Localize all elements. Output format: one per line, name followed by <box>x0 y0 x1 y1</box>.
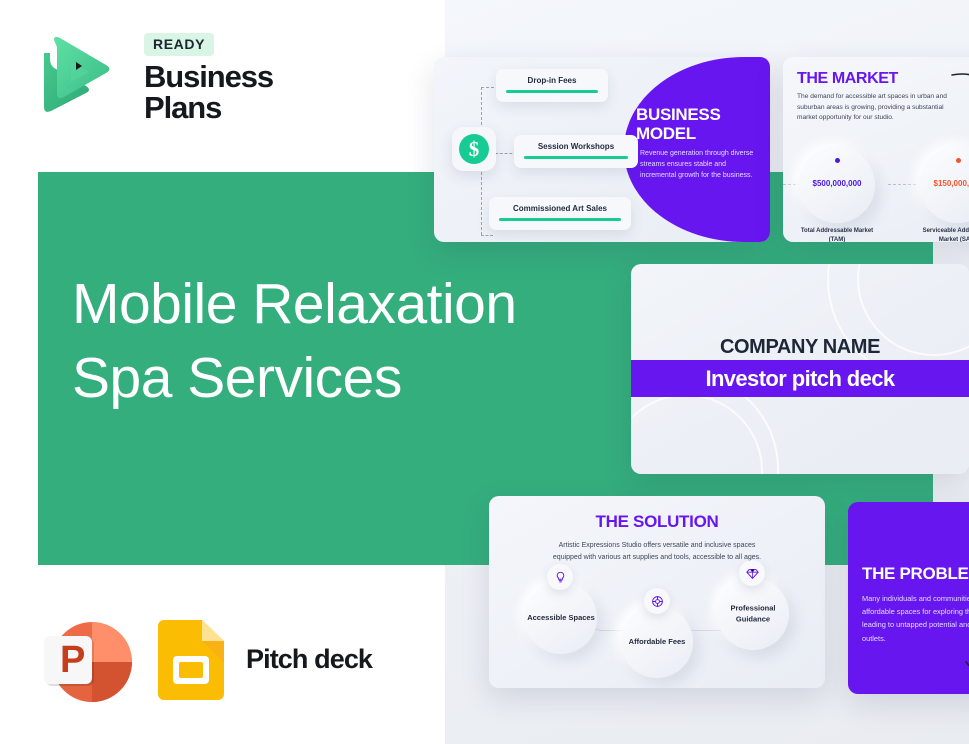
market-title: THE MARKET <box>797 70 898 88</box>
ready-badge: READY <box>144 33 214 56</box>
business-model-item[interactable]: Session Workshops <box>514 135 638 168</box>
solution-node[interactable]: Accessible Spaces <box>525 582 597 654</box>
target-icon <box>644 588 670 614</box>
business-model-item[interactable]: Drop-in Fees <box>496 69 608 102</box>
market-metric-tam[interactable]: $500,000,000 <box>799 147 875 223</box>
svg-text:P: P <box>60 639 85 681</box>
business-model-item[interactable]: Commissioned Art Sales <box>489 197 631 230</box>
slide-the-problem[interactable]: THE PROBLEM Many individuals and communi… <box>848 502 969 694</box>
metric-dot <box>956 158 961 163</box>
company-subtitle: Investor pitch deck <box>631 360 969 397</box>
item-underline <box>506 90 598 93</box>
solution-node[interactable]: Professional Guidance <box>717 578 789 650</box>
lightbulb-icon <box>547 564 573 590</box>
play-triangle-icon <box>40 35 112 115</box>
business-model-description: Revenue generation through diverse strea… <box>640 149 758 182</box>
company-subtitle-band: Investor pitch deck <box>631 360 969 397</box>
company-name-title: COMPANY NAME <box>631 336 969 359</box>
market-caption-sam: Serviceable Addressable Market (SAM) <box>915 227 969 242</box>
slide-business-model[interactable]: BUSINESS MODEL Revenue generation throug… <box>434 57 770 242</box>
format-label: Pitch deck <box>246 644 372 675</box>
business-model-title: BUSINESS MODEL <box>636 105 758 143</box>
item-underline <box>499 218 621 221</box>
slide-company-name[interactable]: COMPANY NAME Investor pitch deck <box>631 264 969 474</box>
market-caption-tam: Total Addressable Market (TAM) <box>794 227 880 242</box>
format-row: P Pitch deck <box>40 612 372 707</box>
slide-the-market[interactable]: THE MARKET The demand for accessible art… <box>783 57 969 242</box>
connector-bottom <box>481 235 493 236</box>
squiggle-decor-icon <box>964 658 969 684</box>
diamond-icon <box>739 560 765 586</box>
metric-dot <box>835 158 840 163</box>
slide-the-solution[interactable]: THE SOLUTION Artistic Expressions Studio… <box>489 496 825 688</box>
problem-title: THE PROBLEM <box>862 564 969 584</box>
market-description: The demand for accessible art spaces in … <box>797 92 949 124</box>
solution-title: THE SOLUTION <box>489 512 825 532</box>
market-dash-mid <box>888 184 916 185</box>
powerpoint-icon: P <box>40 612 136 708</box>
solution-description: Artistic Expressions Studio offers versa… <box>547 540 767 564</box>
problem-description: Many individuals and communities lack ac… <box>862 592 969 645</box>
curved-arrow-icon <box>950 69 969 107</box>
solution-node[interactable]: Affordable Fees <box>621 606 693 678</box>
play-accent-icon <box>76 62 82 70</box>
dollar-coin-icon: $ <box>452 127 496 171</box>
brand-logo[interactable]: READY Business Plans <box>40 33 340 121</box>
market-metric-sam[interactable]: $150,000,000 <box>920 147 969 223</box>
brand-name: Business Plans <box>144 61 354 123</box>
poster-stage: READY Business Plans Mobile Relaxation S… <box>0 0 969 744</box>
google-slides-icon <box>158 620 224 700</box>
item-underline <box>524 156 628 159</box>
page-title: Mobile Relaxation Spa Services <box>72 268 592 415</box>
